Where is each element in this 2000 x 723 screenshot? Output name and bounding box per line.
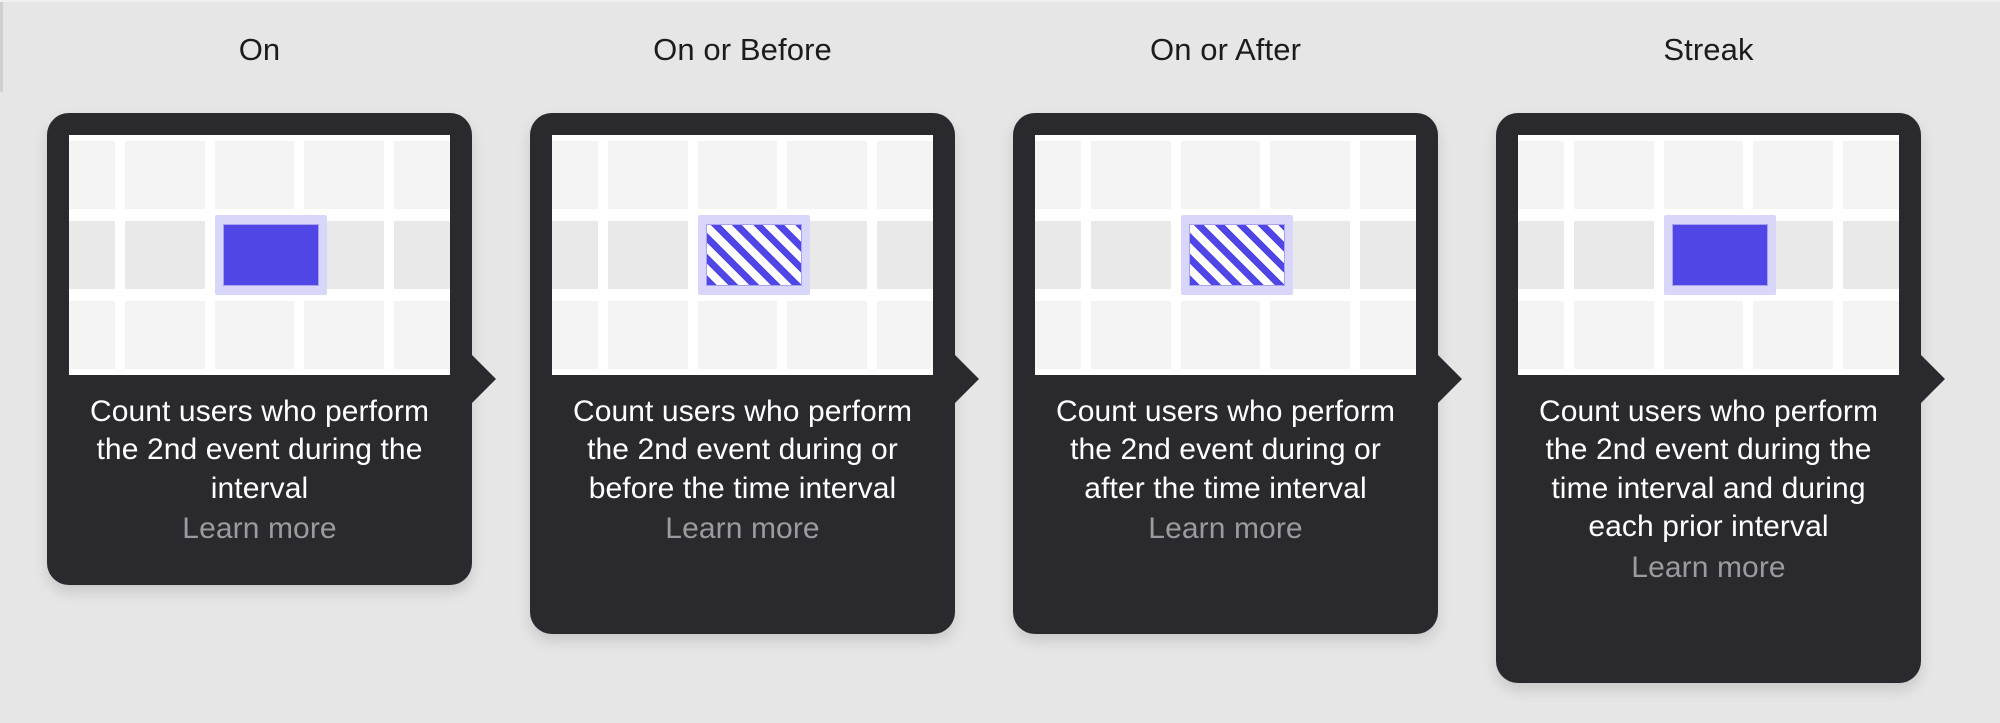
grid-cell-filled xyxy=(1574,221,1654,289)
grid-row-top xyxy=(1035,135,1416,215)
selected-interval-cell xyxy=(1664,215,1776,295)
grid-cell xyxy=(1753,141,1833,209)
grid-cell xyxy=(215,141,295,209)
option-column-on: On xyxy=(47,2,472,65)
grid-cell xyxy=(1360,301,1416,369)
card-tail-icon xyxy=(470,353,496,405)
diagram-on xyxy=(69,135,450,375)
grid-cell xyxy=(1574,301,1654,369)
grid-cell xyxy=(69,301,115,369)
grid-cell xyxy=(552,301,598,369)
learn-more-link[interactable]: Learn more xyxy=(552,508,933,548)
card-description: Count users who perform the 2nd event du… xyxy=(552,375,933,508)
card-tail-icon xyxy=(1436,353,1462,405)
diagram-streak xyxy=(1518,135,1899,375)
grid-cell xyxy=(304,301,384,369)
grid-cell-filled xyxy=(1518,221,1564,289)
grid-cell xyxy=(394,221,450,289)
grid-cell xyxy=(1518,301,1564,369)
selected-interval-fill xyxy=(1189,224,1285,286)
grid-cell xyxy=(394,301,450,369)
card-on[interactable]: Count users who perform the 2nd event du… xyxy=(47,113,472,585)
grid-cell xyxy=(698,141,778,209)
attribution-window-options: On xyxy=(0,2,2000,723)
grid-row-bottom xyxy=(1035,295,1416,375)
grid-row-highlight xyxy=(1518,215,1899,295)
grid-cell xyxy=(1091,141,1171,209)
selected-interval-fill xyxy=(1672,224,1768,286)
grid-row-top xyxy=(552,135,933,215)
column-title-streak: Streak xyxy=(1496,2,1921,65)
grid-cell xyxy=(215,301,295,369)
card-description: Count users who perform the 2nd event du… xyxy=(1518,375,1899,547)
column-title-on: On xyxy=(47,2,472,65)
grid-cell xyxy=(1270,301,1350,369)
grid-row-bottom xyxy=(1518,295,1899,375)
card-on-or-before[interactable]: Count users who perform the 2nd event du… xyxy=(530,113,955,634)
grid-row-highlight xyxy=(1035,215,1416,295)
column-title-on-or-after: On or After xyxy=(1013,2,1438,65)
learn-more-link[interactable]: Learn more xyxy=(1035,508,1416,548)
grid-cell xyxy=(1843,141,1899,209)
grid-cell xyxy=(1091,301,1171,369)
card-description: Count users who perform the 2nd event du… xyxy=(69,375,450,508)
grid-cell xyxy=(787,301,867,369)
grid-cell xyxy=(1664,141,1744,209)
grid-row-bottom xyxy=(69,295,450,375)
grid-cell xyxy=(1360,141,1416,209)
grid-cell xyxy=(69,141,115,209)
grid-row-bottom xyxy=(552,295,933,375)
selected-interval-cell xyxy=(215,215,327,295)
grid-cell xyxy=(1181,141,1261,209)
grid-cell xyxy=(125,221,205,289)
grid-cell xyxy=(552,141,598,209)
option-column-on-or-after: On or After xyxy=(1013,2,1438,65)
card-tail-icon xyxy=(953,353,979,405)
selected-interval-cell xyxy=(698,215,810,295)
grid-cell xyxy=(1270,141,1350,209)
grid-cell xyxy=(1664,301,1744,369)
learn-more-link[interactable]: Learn more xyxy=(69,508,450,548)
grid-cell-filled xyxy=(608,221,688,289)
selected-interval-fill xyxy=(223,224,319,286)
grid-cell xyxy=(698,301,778,369)
grid-cell xyxy=(608,141,688,209)
grid-cell xyxy=(304,141,384,209)
grid-cell xyxy=(1035,301,1081,369)
column-title-on-or-before: On or Before xyxy=(530,2,955,65)
grid-cell xyxy=(1843,301,1899,369)
grid-cell xyxy=(608,301,688,369)
option-column-streak: Streak xyxy=(1496,2,1921,65)
card-tail-icon xyxy=(1919,353,1945,405)
grid-cell xyxy=(877,301,933,369)
grid-cell xyxy=(1753,301,1833,369)
selected-interval-cell xyxy=(1181,215,1293,295)
card-streak[interactable]: Count users who perform the 2nd event du… xyxy=(1496,113,1921,683)
diagram-on-or-after xyxy=(1035,135,1416,375)
grid-cell xyxy=(1035,141,1081,209)
learn-more-link[interactable]: Learn more xyxy=(1518,547,1899,587)
grid-cell xyxy=(877,141,933,209)
grid-cell xyxy=(1091,221,1171,289)
grid-cell xyxy=(1518,141,1564,209)
grid-cell xyxy=(394,141,450,209)
grid-cell xyxy=(787,141,867,209)
grid-cell-filled xyxy=(552,221,598,289)
card-on-or-after[interactable]: Count users who perform the 2nd event du… xyxy=(1013,113,1438,634)
grid-row-top xyxy=(1518,135,1899,215)
grid-cell xyxy=(1843,221,1899,289)
grid-cell xyxy=(125,301,205,369)
grid-row-top xyxy=(69,135,450,215)
grid-row-highlight xyxy=(69,215,450,295)
grid-cell xyxy=(1181,301,1261,369)
grid-cell xyxy=(877,221,933,289)
grid-cell xyxy=(1574,141,1654,209)
grid-cell xyxy=(125,141,205,209)
selected-interval-fill xyxy=(706,224,802,286)
card-description: Count users who perform the 2nd event du… xyxy=(1035,375,1416,508)
grid-cell xyxy=(1035,221,1081,289)
grid-row-highlight xyxy=(552,215,933,295)
grid-cell xyxy=(69,221,115,289)
grid-cell-filled xyxy=(1360,221,1416,289)
option-column-on-or-before: On or Before xyxy=(530,2,955,65)
diagram-on-or-before xyxy=(552,135,933,375)
